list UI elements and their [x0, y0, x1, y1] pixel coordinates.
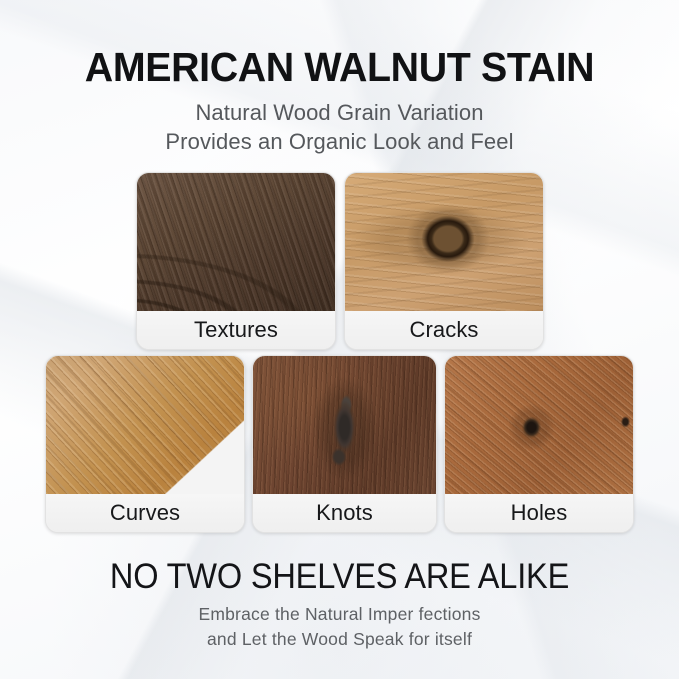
- bottom-headline: NO TWO SHELVES ARE ALIKE: [24, 557, 655, 597]
- feature-label-textures: Textures: [194, 317, 278, 343]
- feature-card-cracks: Cracks: [344, 172, 544, 350]
- feature-label-strip-knots: Knots: [253, 494, 436, 532]
- feature-label-knots: Knots: [316, 500, 373, 526]
- top-subtitle-line-2: Provides an Organic Look and Feel: [0, 127, 679, 156]
- feature-image-cracks: [345, 173, 543, 313]
- feature-image-curves: [46, 356, 244, 496]
- bottom-subtitle-line-1: Embrace the Natural Imper fections: [0, 602, 679, 627]
- feature-image-holes: [445, 356, 633, 496]
- top-subtitle-line-1: Natural Wood Grain Variation: [0, 98, 679, 127]
- top-headline: AMERICAN WALNUT STAIN: [14, 46, 666, 89]
- feature-label-cracks: Cracks: [409, 317, 478, 343]
- feature-card-holes: Holes: [444, 355, 634, 533]
- feature-image-textures: [137, 173, 335, 313]
- top-subtitle: Natural Wood Grain Variation Provides an…: [0, 98, 679, 157]
- feature-label-strip-textures: Textures: [137, 311, 335, 349]
- infographic-page: AMERICAN WALNUT STAIN Natural Wood Grain…: [0, 0, 679, 679]
- feature-image-knots: [253, 356, 436, 496]
- feature-card-curves: Curves: [45, 355, 245, 533]
- feature-card-textures: Textures: [136, 172, 336, 350]
- feature-label-curves: Curves: [110, 500, 180, 526]
- feature-label-strip-curves: Curves: [46, 494, 244, 532]
- bottom-subtitle-line-2: and Let the Wood Speak for itself: [0, 627, 679, 652]
- feature-card-knots: Knots: [252, 355, 437, 533]
- feature-label-holes: Holes: [511, 500, 568, 526]
- feature-label-strip-cracks: Cracks: [345, 311, 543, 349]
- bottom-subtitle: Embrace the Natural Imper fections and L…: [0, 602, 679, 652]
- feature-label-strip-holes: Holes: [445, 494, 633, 532]
